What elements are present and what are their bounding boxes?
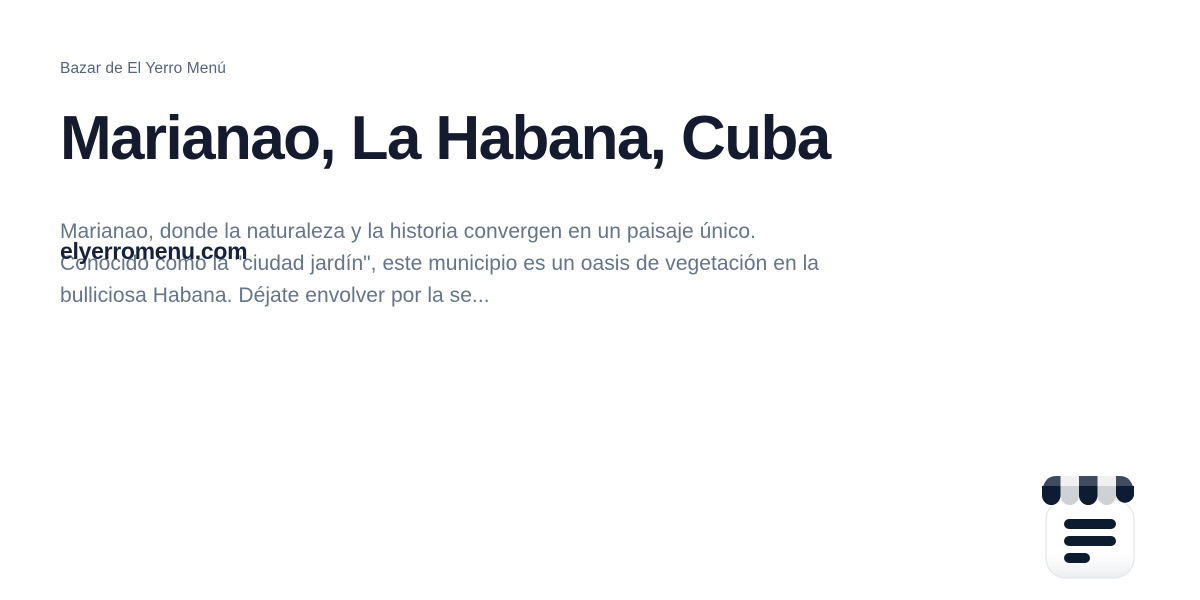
page-description: Marianao, donde la naturaleza y la histo… xyxy=(60,216,835,312)
storefront-menu-logo xyxy=(1038,472,1142,580)
content-block: Bazar de El Yerro Menú Marianao, La Haba… xyxy=(60,58,860,333)
page-canvas: Bazar de El Yerro Menú Marianao, La Haba… xyxy=(0,0,1200,600)
awning-shape xyxy=(1042,476,1134,505)
description-block: Marianao, donde la naturaleza y la histo… xyxy=(60,216,860,312)
breadcrumb-eyebrow: Bazar de El Yerro Menú xyxy=(60,58,860,80)
page-title: Marianao, La Habana, Cuba xyxy=(60,104,850,174)
site-watermark: elyerromenu.com xyxy=(60,238,247,264)
